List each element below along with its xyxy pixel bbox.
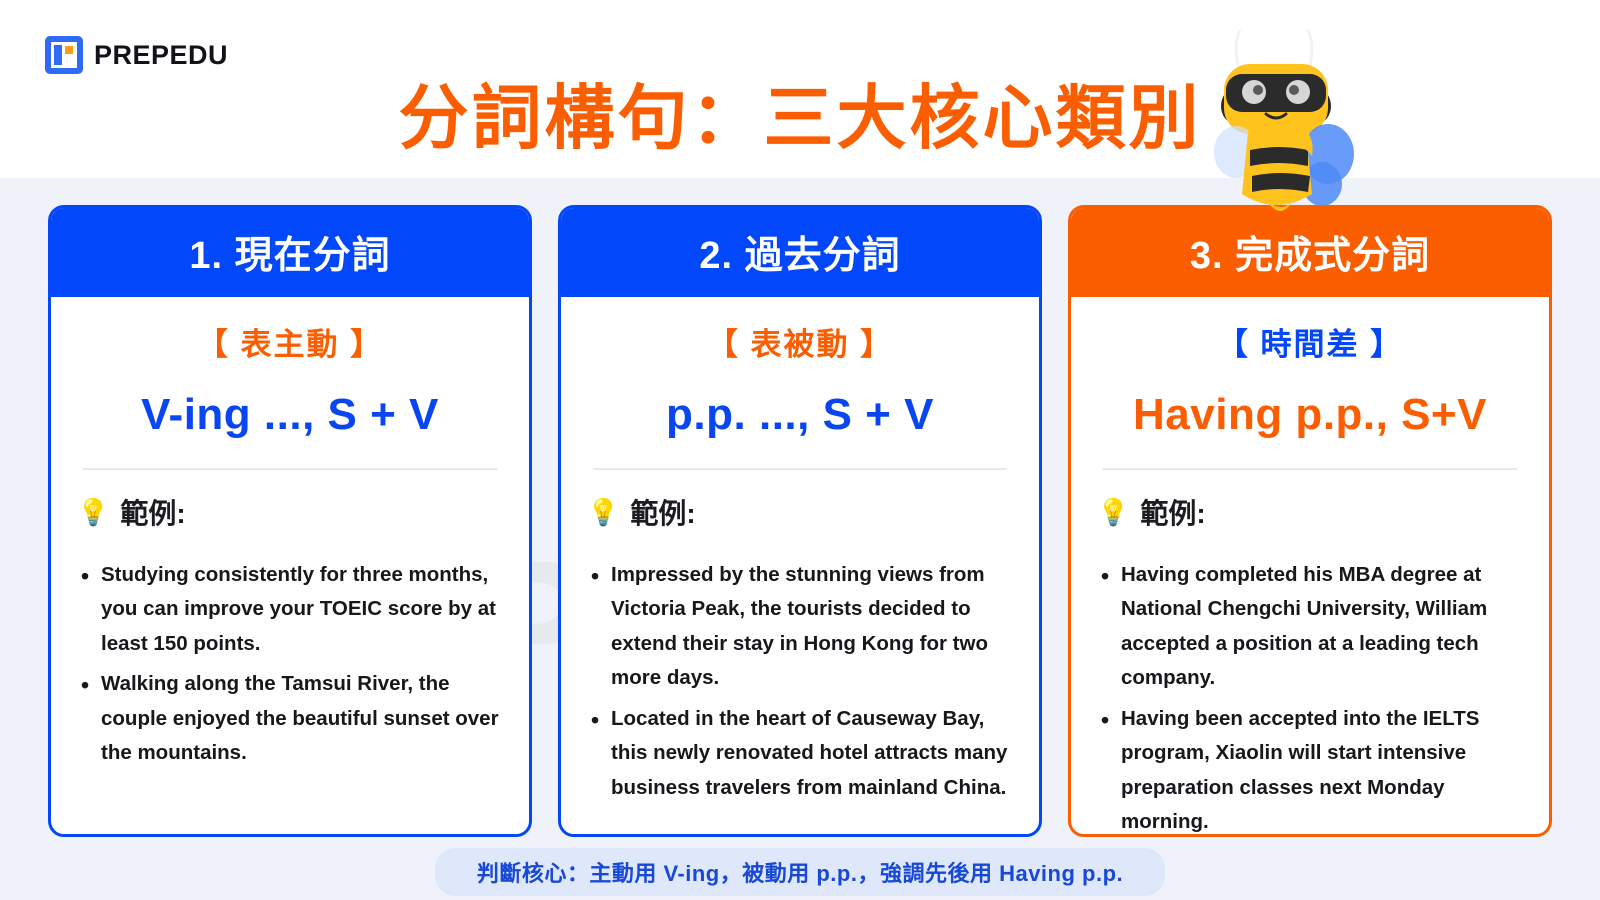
card-tag: 【 時間差 】 [1097,319,1523,364]
bee-mascot-icon [1196,26,1356,241]
footer: 判斷核心：主動用 V-ing，被動用 p.p.，強調先後用 Having p.p… [0,848,1600,896]
list-item: Having completed his MBA degree at Natio… [1097,558,1523,696]
page-title: 分詞構句：三大核心類別 [0,62,1600,163]
card-heading: 1. 現在分詞 [48,205,532,297]
examples-header: 💡 範例: [77,492,503,532]
list-item: Located in the heart of Causeway Bay, th… [587,702,1013,805]
examples-list: Impressed by the stunning views from Vic… [587,558,1013,805]
list-item: Studying consistently for three months, … [77,558,503,661]
examples-label: 範例: [120,492,185,532]
card-formula: p.p. ..., S + V [587,390,1013,440]
card-heading: 2. 過去分詞 [558,205,1042,297]
examples-list: Having completed his MBA degree at Natio… [1097,558,1523,837]
card-body: 【 表主動 】 V-ing ..., S + V 💡 範例: Studying … [51,297,529,834]
lightbulb-icon: 💡 [1097,499,1129,525]
card-present-participle: 1. 現在分詞 【 表主動 】 V-ing ..., S + V 💡 範例: S… [48,205,532,837]
brand-logo[interactable]: PREPEDU [45,36,228,74]
card-tag: 【 表主動 】 [77,319,503,364]
list-item: Having been accepted into the IELTS prog… [1097,702,1523,837]
examples-list: Studying consistently for three months, … [77,558,503,771]
lightbulb-icon: 💡 [587,499,619,525]
card-divider [1103,468,1517,470]
card-tag: 【 表被動 】 [587,319,1013,364]
card-formula: V-ing ..., S + V [77,390,503,440]
examples-label: 範例: [1140,492,1205,532]
examples-label: 範例: [630,492,695,532]
list-item: Impressed by the stunning views from Vic… [587,558,1013,696]
footer-summary: 判斷核心：主動用 V-ing，被動用 p.p.，強調先後用 Having p.p… [435,848,1165,896]
card-body: 【 時間差 】 Having p.p., S+V 💡 範例: Having co… [1071,297,1549,837]
brand-logo-text: PREPEDU [94,40,228,71]
list-item: Walking along the Tamsui River, the coup… [77,667,503,770]
card-divider [83,468,497,470]
card-formula: Having p.p., S+V [1097,390,1523,440]
card-past-participle: 2. 過去分詞 【 表被動 】 p.p. ..., S + V 💡 範例: Im… [558,205,1042,837]
examples-header: 💡 範例: [1097,492,1523,532]
card-perfect-participle: 3. 完成式分詞 【 時間差 】 Having p.p., S+V 💡 範例: … [1068,205,1552,837]
card-divider [593,468,1007,470]
lightbulb-icon: 💡 [77,499,109,525]
infographic-root: PREP PREPEDU 分詞構句：三大核心類別 [0,0,1600,900]
card-body: 【 表被動 】 p.p. ..., S + V 💡 範例: Impressed … [561,297,1039,834]
card-list: 1. 現在分詞 【 表主動 】 V-ing ..., S + V 💡 範例: S… [0,205,1600,837]
examples-header: 💡 範例: [587,492,1013,532]
prepedu-square-icon [45,36,83,74]
